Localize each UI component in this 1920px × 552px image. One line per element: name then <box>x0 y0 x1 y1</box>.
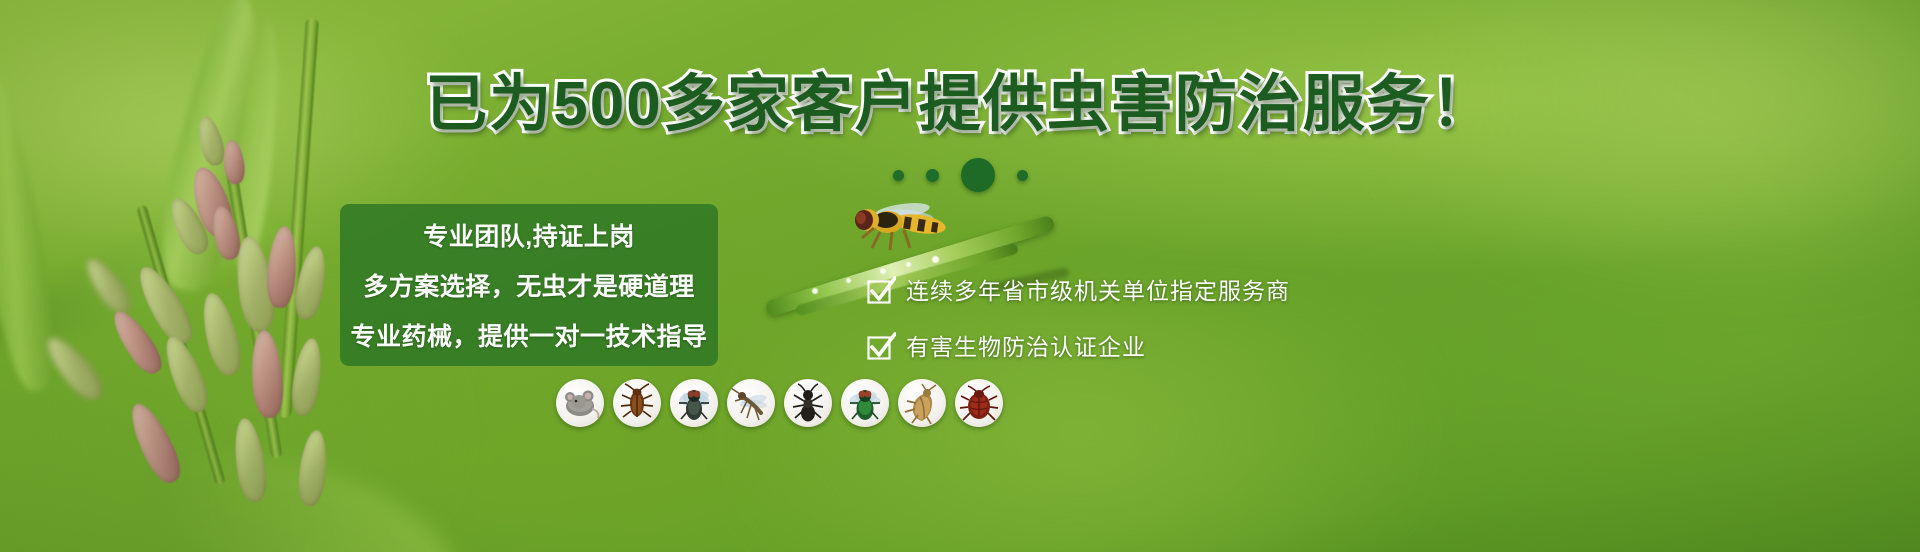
decorative-dot-row <box>0 158 1920 192</box>
feature-line-2: 多方案选择，无虫才是硬道理 <box>363 267 695 303</box>
checklist-item: 连续多年省市级机关单位指定服务商 <box>866 272 1290 306</box>
fly-icon <box>670 379 718 427</box>
feature-line-1: 专业团队,持证上岗 <box>423 217 634 253</box>
page-title: 已为500多家客户提供虫害防治服务！ <box>0 74 1920 136</box>
checklist-item-label: 连续多年省市级机关单位指定服务商 <box>906 272 1290 306</box>
credentials-checklist: 连续多年省市级机关单位指定服务商 有害生物防治认证企业 <box>866 272 1290 362</box>
dot-small-right-icon <box>1017 170 1028 181</box>
checklist-item: 有害生物防治认证企业 <box>866 328 1290 362</box>
cockroach-icon <box>613 379 661 427</box>
dot-large-icon <box>961 158 995 192</box>
page-title-text: 已为500多家客户提供虫害防治服务！ <box>425 70 1494 139</box>
features-panel: 专业团队,持证上岗 多方案选择，无虫才是硬道理 专业药械，提供一对一技术指导 <box>340 204 718 366</box>
flea-icon <box>898 379 946 427</box>
checkbox-checked-icon <box>866 332 893 359</box>
dot-small-left-icon <box>893 170 904 181</box>
greenfly-icon <box>841 379 889 427</box>
pest-control-banner: 已为500多家客户提供虫害防治服务！ 专业团队,持证上岗 多方案选择，无虫才是硬… <box>0 0 1920 552</box>
checkbox-checked-icon <box>866 276 893 303</box>
dot-medium-icon <box>926 169 939 182</box>
bedbug-icon <box>955 379 1003 427</box>
feature-line-3: 专业药械，提供一对一技术指导 <box>350 317 707 353</box>
checklist-item-label: 有害生物防治认证企业 <box>906 328 1146 362</box>
pest-icon-row <box>556 379 1003 427</box>
mosquito-icon <box>727 379 775 427</box>
mouse-icon <box>556 379 604 427</box>
ant-icon <box>784 379 832 427</box>
